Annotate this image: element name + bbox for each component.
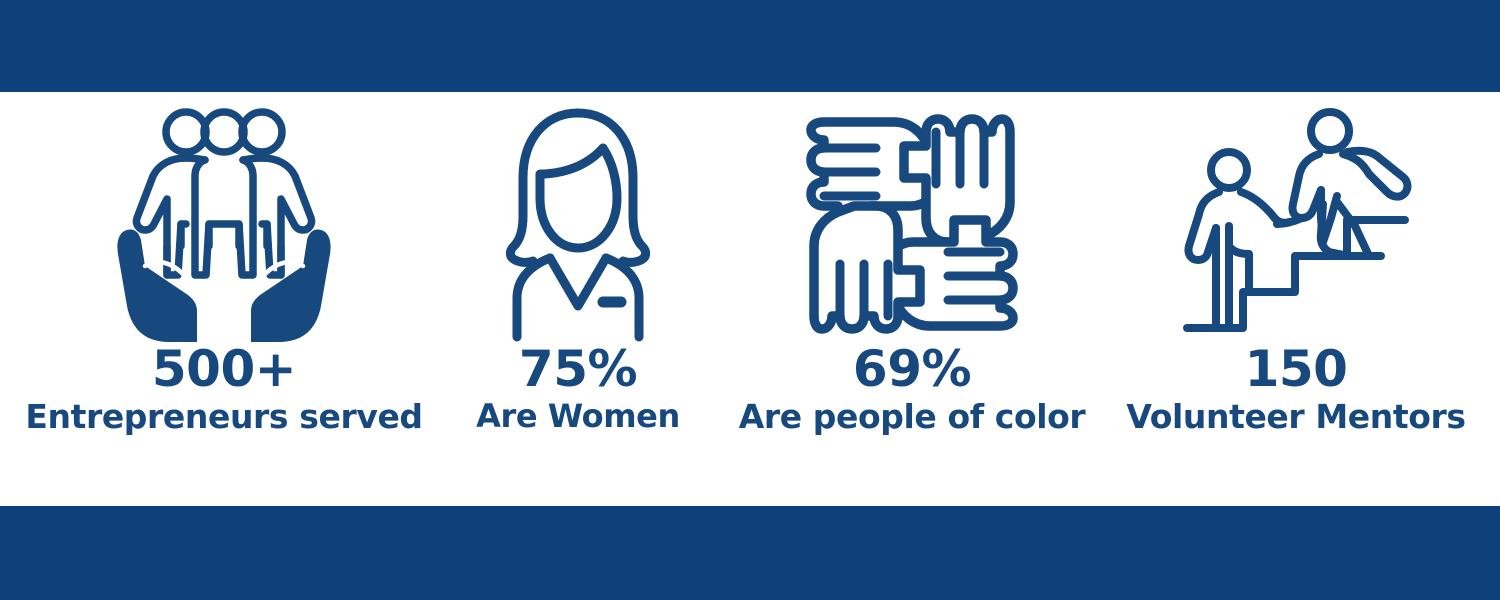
bottom-color-band — [0, 506, 1500, 600]
hands-holding-people-icon — [115, 106, 333, 342]
stat-number: 69% — [853, 344, 971, 395]
stat-label: Are people of color — [739, 399, 1086, 435]
top-color-band — [0, 0, 1500, 92]
stat-label: Are Women — [476, 399, 680, 434]
mentor-helping-up-stairs-icon — [1171, 106, 1421, 342]
stat-number: 500+ — [152, 344, 296, 395]
stat-number: 75% — [519, 344, 637, 395]
four-hands-teamwork-icon — [798, 106, 1026, 342]
stats-infographic: 500+ Entrepreneurs served — [0, 0, 1500, 600]
stat-card-mentors: 150 Volunteer Mentors — [1106, 92, 1486, 506]
stat-card-women: 75% Are Women — [438, 92, 718, 506]
stats-row: 500+ Entrepreneurs served — [0, 92, 1500, 506]
stat-card-entrepreneurs: 500+ Entrepreneurs served — [14, 92, 434, 506]
right-hand-shape — [251, 229, 331, 342]
woman-portrait-icon — [495, 106, 661, 342]
stat-label: Volunteer Mentors — [1126, 399, 1465, 435]
left-hand-shape — [117, 229, 197, 342]
stat-card-people-of-color: 69% Are people of color — [722, 92, 1102, 506]
stat-number: 150 — [1245, 344, 1348, 395]
stat-label: Entrepreneurs served — [25, 399, 422, 435]
